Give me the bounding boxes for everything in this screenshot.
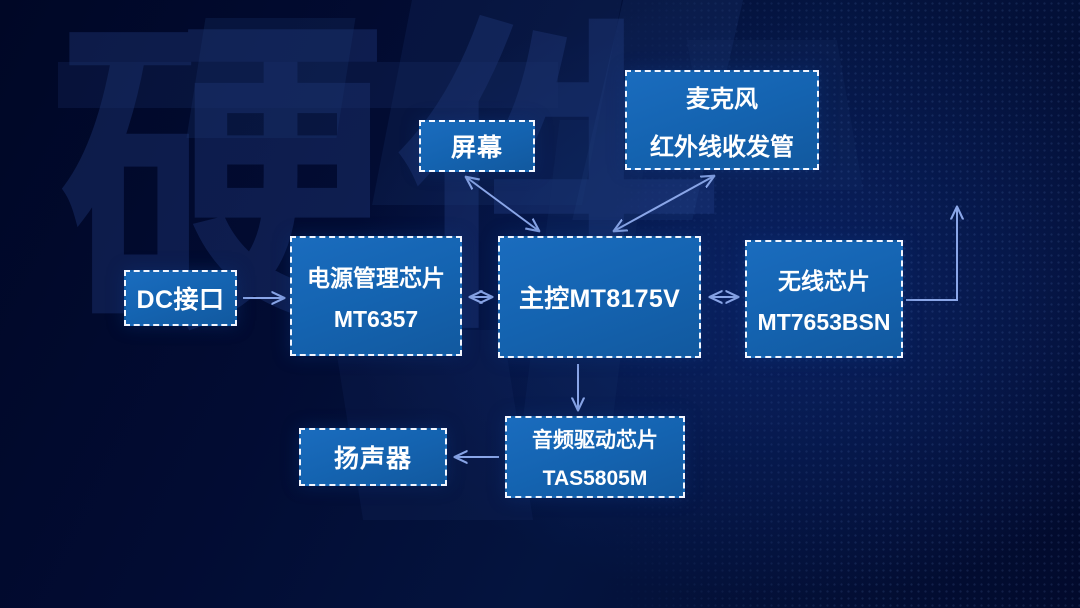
node-sublabel: TAS5805M xyxy=(543,467,648,491)
decor-shard xyxy=(58,62,558,108)
node-sublabel: MT6357 xyxy=(334,306,418,333)
node-sublabel: MT7653BSN xyxy=(758,309,891,336)
decor-shard xyxy=(333,330,533,520)
node-label: 电源管理芯片 xyxy=(307,259,445,293)
node-audio-driver-ic[interactable]: 音频驱动芯片 TAS5805M xyxy=(505,416,685,498)
node-sublabel: 红外线收发管 xyxy=(650,127,794,162)
arrow-mcu-to-mic xyxy=(614,176,714,231)
node-screen[interactable]: 屏幕 xyxy=(419,120,535,172)
arrow-wifi-to-antenna xyxy=(906,207,957,300)
node-label: 无线芯片 xyxy=(778,262,870,296)
node-wireless-chip[interactable]: 无线芯片 MT7653BSN xyxy=(745,240,903,358)
node-label: DC接口 xyxy=(136,280,224,316)
node-microphone-ir[interactable]: 麦克风 红外线收发管 xyxy=(625,70,819,170)
arrow-mcu-to-screen xyxy=(466,177,539,231)
node-label: 音频驱动芯片 xyxy=(532,424,658,454)
decor-shard xyxy=(186,18,355,138)
node-label: 主控MT8175V xyxy=(519,279,680,315)
node-label: 屏幕 xyxy=(451,128,503,164)
node-label: 麦克风 xyxy=(686,79,758,114)
node-main-controller[interactable]: 主控MT8175V xyxy=(498,236,701,358)
node-speaker[interactable]: 扬声器 xyxy=(299,428,447,486)
node-dc-interface[interactable]: DC接口 xyxy=(124,270,237,326)
node-label: 扬声器 xyxy=(334,439,412,475)
decor-shard xyxy=(372,0,622,205)
hardware-block-diagram: 硬件 xyxy=(0,0,1080,608)
node-power-management-ic[interactable]: 电源管理芯片 MT6357 xyxy=(290,236,462,356)
